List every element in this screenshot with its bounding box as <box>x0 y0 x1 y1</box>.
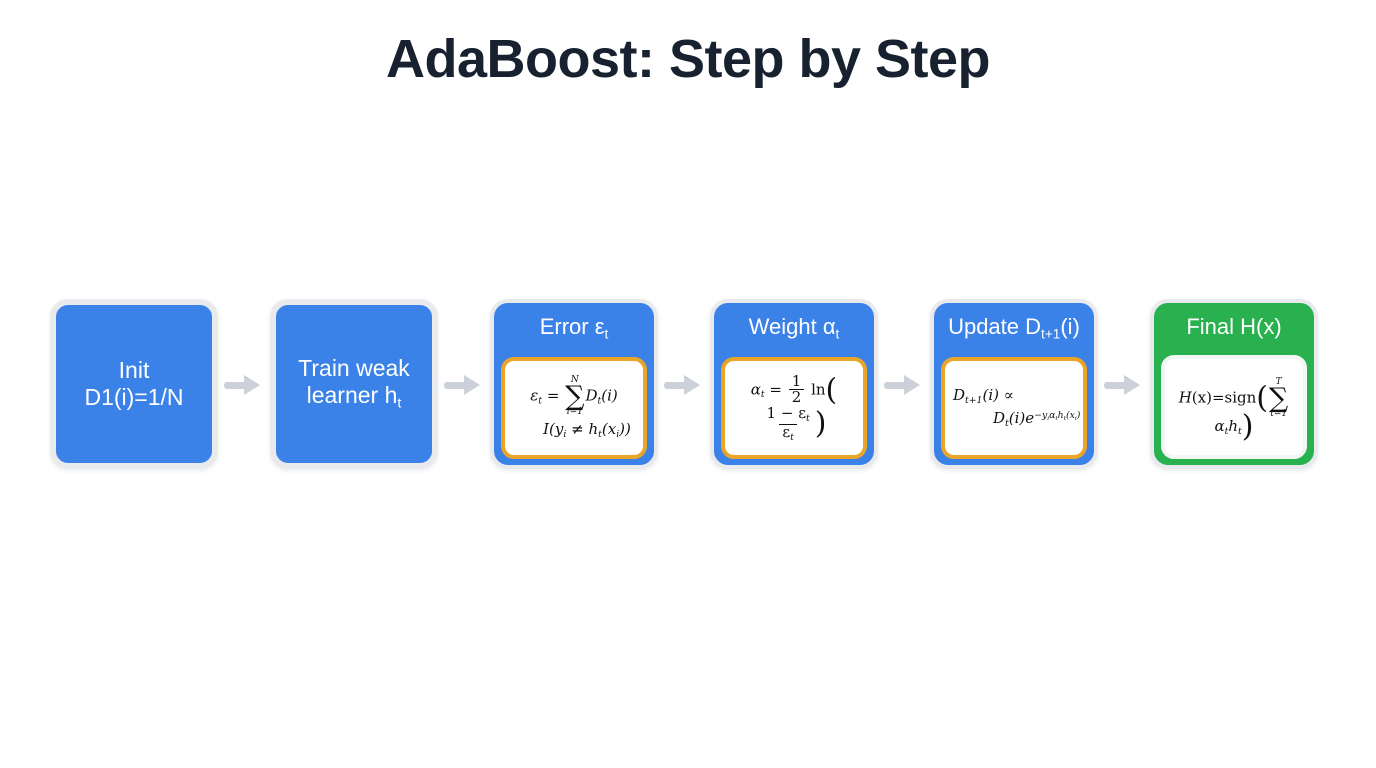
page-title: AdaBoost: Step by Step <box>0 30 1376 89</box>
sigma-glyph: ∑ <box>565 385 584 408</box>
sigma-glyph: ∑ <box>1269 387 1288 410</box>
arrow-5-icon <box>1098 371 1150 397</box>
formula-update-line2: Dt(i)e−yiαtht(xi) <box>953 411 1080 429</box>
flow-node-weight[interactable]: Weight αt αt = 1 2 ln( 1 − εt εt ) <box>710 299 878 469</box>
arrow-1-icon <box>218 371 270 397</box>
exp-minus-y: −y <box>1034 410 1047 421</box>
indicator-neq: ≠ h <box>566 420 598 438</box>
node-error-header: Error εt <box>536 309 613 341</box>
arrow-head <box>464 375 480 395</box>
exponent-group: −yiαtht(xi) <box>1034 410 1080 421</box>
ln-function: ln <box>811 380 825 398</box>
ratio-denominator: εt <box>779 424 797 443</box>
node-init-line1: Init <box>119 357 150 383</box>
node-weight-header-subscript: t <box>836 326 840 341</box>
fraction-numerator: 1 <box>789 374 805 390</box>
paren-open: ( <box>1256 380 1268 415</box>
formula-card-update: Dt+1(i) ∝ Dt(i)e−yiαtht(xi) <box>941 357 1087 459</box>
equals-sign: = <box>547 387 560 405</box>
arrow-head <box>1124 375 1140 395</box>
sum-lower-limit: t=1 <box>1270 410 1287 419</box>
node-init-line2: D1(i)=1/N <box>84 384 183 410</box>
formula-card-final: H(x)=sign( T ∑ t=1 αtht) <box>1161 355 1307 459</box>
adaboost-flow-diagram: Init D1(i)=1/N Train weak learner ht Err… <box>50 296 1330 472</box>
node-weight-header: Weight αt <box>745 309 844 341</box>
node-train-line1: Train weak <box>298 355 410 381</box>
proportional-sign: ∝ <box>1004 386 1014 404</box>
indicator-x: (x <box>602 420 616 438</box>
arrow-4-icon <box>878 371 930 397</box>
h-term: h <box>1228 417 1238 435</box>
arrow-head <box>244 375 260 395</box>
term-D: D <box>585 387 597 405</box>
ratio-den-sub: t <box>790 432 794 443</box>
arrow-3-icon <box>658 371 710 397</box>
formula-error-line2: I(yi ≠ ht(xi)) <box>508 422 640 440</box>
flow-node-final[interactable]: Final H(x) H(x)=sign( T ∑ t=1 αtht) <box>1150 299 1318 469</box>
paren-close: ) <box>815 406 827 441</box>
ratio-den-text: ε <box>782 423 790 441</box>
formula-error: εt = N ∑ i=1 Dt(i) I(yi ≠ ht(xi)) <box>505 376 643 440</box>
H-symbol: H <box>1179 388 1192 406</box>
node-error-header-symbol: ε <box>595 314 605 339</box>
exp-close: ) <box>1077 410 1081 421</box>
D-argument: (i) <box>982 386 999 404</box>
arrow-head <box>684 375 700 395</box>
alpha-term: α <box>1214 417 1224 435</box>
flow-node-train-weak-learner[interactable]: Train weak learner ht <box>270 299 438 469</box>
node-init-label: Init D1(i)=1/N <box>76 357 191 411</box>
H-sign-function: (x)=sign <box>1192 388 1257 406</box>
node-error-header-subscript: t <box>605 326 609 341</box>
summation-symbol: N ∑ i=1 <box>565 376 584 417</box>
flow-node-init[interactable]: Init D1(i)=1/N <box>50 299 218 469</box>
D-subscript: t+1 <box>965 395 982 406</box>
ratio-num-sub: t <box>806 413 810 424</box>
Dt-symbol: D <box>993 409 1005 427</box>
arrow-head <box>904 375 920 395</box>
Dt-argument-exp: (i)e <box>1009 409 1034 427</box>
node-weight-header-prefix: Weight <box>749 314 823 339</box>
sum-lower-limit: i=1 <box>567 408 583 417</box>
fraction-ratio: 1 − εt εt <box>764 406 813 442</box>
node-update-header: Update Dt+1(i) <box>944 309 1084 341</box>
term-D-argument: (i) <box>601 387 618 405</box>
alpha-symbol: α <box>751 380 761 398</box>
D-symbol: D <box>953 386 965 404</box>
formula-card-weight: αt = 1 2 ln( 1 − εt εt ) <box>721 357 867 459</box>
arrow-2-icon <box>438 371 490 397</box>
alpha-subscript: t <box>761 389 765 400</box>
flow-node-error[interactable]: Error εt εt = N ∑ i=1 Dt(i) I(yi ≠ ht(xi… <box>490 299 658 469</box>
node-train-label: Train weak learner ht <box>290 355 418 413</box>
node-update-header-prefix: Update D <box>948 314 1041 339</box>
node-train-line2-subscript: t <box>397 396 401 412</box>
summation-symbol: T ∑ t=1 <box>1269 378 1288 419</box>
node-error-header-prefix: Error <box>540 314 595 339</box>
node-update-header-suffix: (i) <box>1060 314 1080 339</box>
formula-update: Dt+1(i) ∝ Dt(i)e−yiαtht(xi) <box>945 388 1083 428</box>
paren-open: ( <box>826 372 838 407</box>
flow-node-update[interactable]: Update Dt+1(i) Dt+1(i) ∝ Dt(i)e−yiαtht(x… <box>930 299 1098 469</box>
formula-card-error: εt = N ∑ i=1 Dt(i) I(yi ≠ ht(xi)) <box>501 357 647 459</box>
formula-weight: αt = 1 2 ln( 1 − εt εt ) <box>725 374 863 443</box>
node-train-line2: learner h <box>307 382 398 408</box>
node-final-header: Final H(x) <box>1182 309 1285 339</box>
eps-subscript: t <box>538 396 542 407</box>
exp-x: (x <box>1066 410 1075 421</box>
node-weight-header-symbol: α <box>823 314 836 339</box>
ratio-numerator: 1 − εt <box>764 406 813 424</box>
equals-sign: = <box>769 380 782 398</box>
indicator-open: I(y <box>543 420 563 438</box>
node-update-header-subscript: t+1 <box>1041 326 1060 341</box>
paren-close: ) <box>1242 409 1254 444</box>
ratio-num-text: 1 − ε <box>767 404 806 422</box>
formula-final: H(x)=sign( T ∑ t=1 αtht) <box>1165 378 1303 437</box>
fraction-one-half: 1 2 <box>789 374 805 407</box>
indicator-close: )) <box>619 420 631 438</box>
